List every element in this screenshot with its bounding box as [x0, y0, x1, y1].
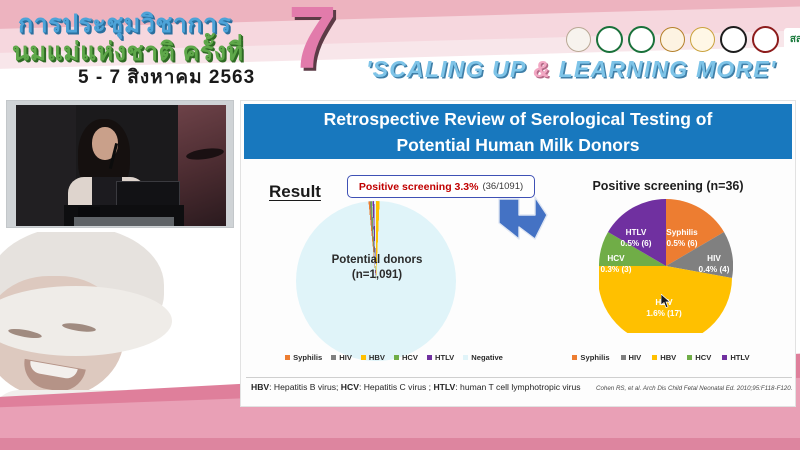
legend-label-syphilis-left: Syphilis — [293, 353, 322, 362]
green-health-logo-2 — [628, 26, 655, 53]
thaihealth-sss-logo: สสส — [784, 28, 800, 51]
legend-label-hcv-left: HCV — [402, 353, 418, 362]
positive-screening-legend: Syphilis HIV HBV HCV HTLV — [541, 353, 781, 362]
legend-item-hcv-right: HCV — [687, 353, 711, 362]
black-circle-logo — [720, 26, 747, 53]
legend-label-htlv-left: HTLV — [435, 353, 454, 362]
footnote-htlv-def: : human T cell lymphotropic virus — [455, 382, 580, 392]
legend-swatch-syphilis-left — [285, 355, 290, 360]
legend-item-negative-left: Negative — [463, 353, 503, 362]
pie-label-hcv-name: HCV — [590, 253, 642, 264]
legend-item-htlv-right: HTLV — [722, 353, 749, 362]
conference-header-banner: การประชุมวิชาการ นมแม่แห่งชาติ ครั้งที่ … — [0, 0, 800, 96]
legend-swatch-hiv-left — [331, 355, 336, 360]
source-citation: Cohen RS, et al. Arch Dis Child Fetal Ne… — [596, 385, 792, 392]
legend-swatch-htlv-right — [722, 355, 727, 360]
legend-label-negative-left: Negative — [471, 353, 503, 362]
baby-hat-brim — [0, 286, 172, 356]
footer-pink-strip — [0, 438, 800, 450]
legend-swatch-syphilis-right — [572, 355, 577, 360]
pie-label-htlv: HTLV 0.5% (6) — [607, 227, 665, 249]
pie-label-htlv-value: 0.5% (6) — [607, 238, 665, 249]
callout-percent-text: Positive screening 3.3% — [359, 181, 479, 193]
slide-title: Retrospective Review of Serological Test… — [244, 104, 792, 159]
legend-label-hbv-right: HBV — [660, 353, 676, 362]
pie-label-hcv-value: 0.3% (3) — [590, 264, 642, 275]
podium-base — [74, 217, 174, 226]
conference-date: 5 - 7 สิงหาคม 2563 — [78, 62, 255, 92]
legend-label-hcv-right: HCV — [695, 353, 711, 362]
pie-label-hbv-value: 1.6% (17) — [633, 308, 695, 319]
footnote-hcv-def: : Hepatitis C virus ; — [359, 382, 434, 392]
speaker-video-feed — [16, 105, 226, 226]
legend-swatch-hbv-right — [652, 355, 657, 360]
legend-swatch-negative-left — [463, 355, 468, 360]
legend-item-htlv-left: HTLV — [427, 353, 454, 362]
presentation-slide: Retrospective Review of Serological Test… — [240, 100, 796, 407]
legend-label-htlv-right: HTLV — [730, 353, 749, 362]
green-health-logo-1 — [596, 26, 623, 53]
slide-title-line1: Retrospective Review of Serological Test… — [324, 106, 713, 132]
tagline-ampersand: & — [533, 56, 551, 82]
legend-swatch-hcv-right — [687, 355, 692, 360]
conference-edition-number: 7 — [288, 0, 337, 82]
sponsor-logo-row: สสส — [566, 26, 800, 53]
pie-label-hiv-value: 0.4% (4) — [687, 264, 741, 275]
legend-item-syphilis-left: Syphilis — [285, 353, 322, 362]
slide-recording-stage: การประชุมวิชาการ นมแม่แห่งชาติ ครั้งที่ … — [0, 0, 800, 450]
legend-swatch-hbv-left — [361, 355, 366, 360]
red-crest-logo — [752, 26, 779, 53]
pie-label-hiv-name: HIV — [687, 253, 741, 264]
potential-donors-label-line2: (n=1,091) — [309, 268, 445, 283]
legend-item-hiv-left: HIV — [331, 353, 352, 362]
conference-tagline: 'SCALING UP & LEARNING MORE' — [366, 56, 776, 83]
potential-donors-legend: Syphilis HIV HBV HCV HTLV Negative — [269, 353, 519, 362]
callout-fraction-text: (36/1091) — [482, 181, 523, 192]
potential-donors-center-label: Potential donors (n=1,091) — [309, 253, 445, 283]
legend-item-hiv-right: HIV — [621, 353, 642, 362]
tagline-part2: LEARNING MORE' — [551, 56, 776, 82]
pie-label-hcv: HCV 0.3% (3) — [590, 253, 642, 275]
legend-label-hiv-left: HIV — [339, 353, 352, 362]
footnote-htlv-abbr: HTLV — [433, 382, 455, 392]
legend-swatch-hiv-right — [621, 355, 626, 360]
legend-item-syphilis-right: Syphilis — [572, 353, 609, 362]
legend-item-hbv-right: HBV — [652, 353, 676, 362]
legend-item-hbv-left: HBV — [361, 353, 385, 362]
footnote-hbv-def: : Hepatitis B virus; — [269, 382, 341, 392]
legend-swatch-htlv-left — [427, 355, 432, 360]
footnote-divider — [246, 377, 792, 378]
royal-seal-logo — [566, 27, 591, 52]
positive-screening-title: Positive screening (n=36) — [553, 179, 783, 193]
speaker-video-panel — [6, 100, 234, 228]
result-heading: Result — [269, 182, 321, 202]
abbreviation-footnote: HBV: Hepatitis B virus; HCV: Hepatitis C… — [251, 382, 581, 392]
blue-arrow-icon — [497, 193, 549, 243]
potential-donors-label-line1: Potential donors — [309, 253, 445, 268]
ministry-crest-logo — [660, 27, 685, 52]
legend-label-hbv-left: HBV — [369, 353, 385, 362]
footnote-hbv-abbr: HBV — [251, 382, 269, 392]
pie-label-hiv: HIV 0.4% (4) — [687, 253, 741, 275]
tagline-part1: 'SCALING UP — [366, 56, 533, 82]
royal-crest-logo — [690, 27, 715, 52]
legend-item-hcv-left: HCV — [394, 353, 418, 362]
legend-label-syphilis-right: Syphilis — [580, 353, 609, 362]
legend-swatch-hcv-left — [394, 355, 399, 360]
pie-label-htlv-name: HTLV — [607, 227, 665, 238]
video-background-right — [178, 105, 226, 226]
slide-title-line2: Potential Human Milk Donors — [396, 132, 639, 158]
legend-label-hiv-right: HIV — [629, 353, 642, 362]
footnote-hcv-abbr: HCV — [341, 382, 359, 392]
